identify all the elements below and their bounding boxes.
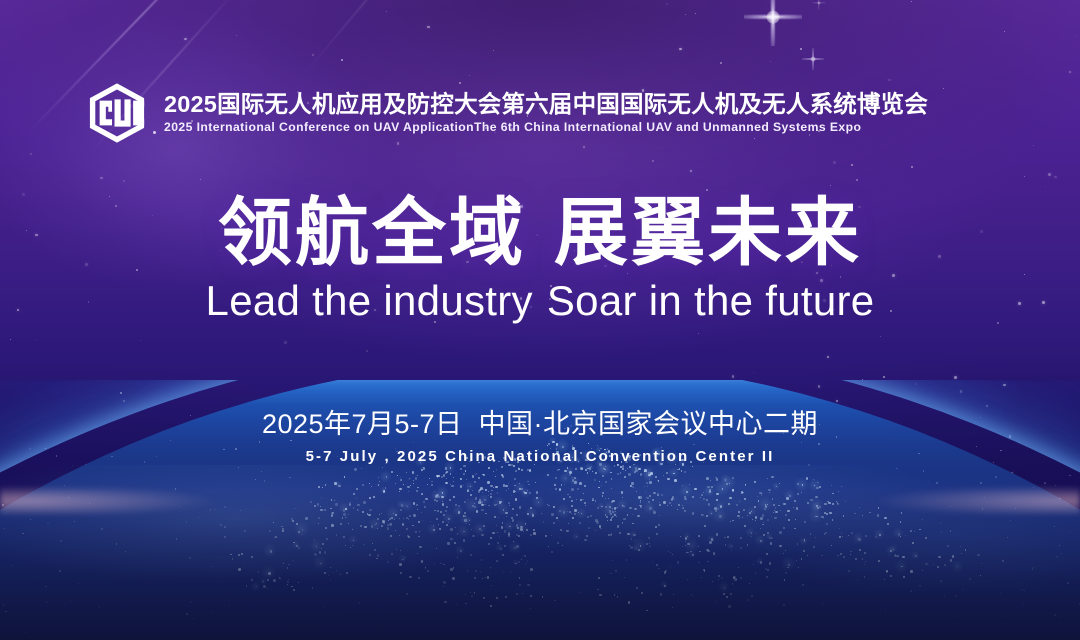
hero-block: 领航全域展翼未来 Lead the industrySoar in the fu… — [0, 196, 1080, 323]
city-light-dot — [2, 504, 4, 506]
header-lockup: 2025国际无人机应用及防控大会第六届中国国际无人机及无人系统博览会 2025 … — [86, 82, 928, 144]
event-date-venue-en: 5-7 July , 2025 China National Conventio… — [0, 448, 1080, 465]
city-light-dot — [1044, 482, 1046, 484]
city-light-dot — [1069, 475, 1071, 477]
city-light-dot — [72, 465, 73, 466]
hero-headline-cn: 领航全域展翼未来 — [0, 196, 1080, 270]
event-date-venue-cn: 2025年7月5-7日中国·北京国家会议中心二期 — [0, 408, 1080, 441]
hero-headline-en-part2: Soar in the future — [547, 277, 875, 324]
logo-accent-dot — [153, 131, 156, 134]
event-venue-cn: 中国·北京国家会议中心二期 — [479, 409, 819, 439]
event-date-cn: 2025年7月5-7日 — [262, 409, 463, 439]
conference-banner: 2025国际无人机应用及防控大会第六届中国国际无人机及无人系统博览会 2025 … — [0, 0, 1080, 640]
hero-headline-en-part1: Lead the industry — [206, 277, 533, 324]
conference-title-cn: 2025国际无人机应用及防控大会第六届中国国际无人机及无人系统博览会 — [164, 92, 928, 117]
conference-title-en: 2025 International Conference on UAV App… — [164, 121, 928, 134]
hero-headline-en: Lead the industrySoar in the future — [0, 278, 1080, 323]
city-light-dot — [1055, 485, 1056, 486]
hero-headline-cn-part2: 展翼未来 — [554, 191, 862, 274]
guc-hexagon-logo-icon — [86, 82, 148, 144]
event-meta-block: 2025年7月5-7日中国·北京国家会议中心二期 5-7 July , 2025… — [0, 408, 1080, 465]
hero-headline-cn-part1: 领航全域 — [218, 191, 526, 274]
